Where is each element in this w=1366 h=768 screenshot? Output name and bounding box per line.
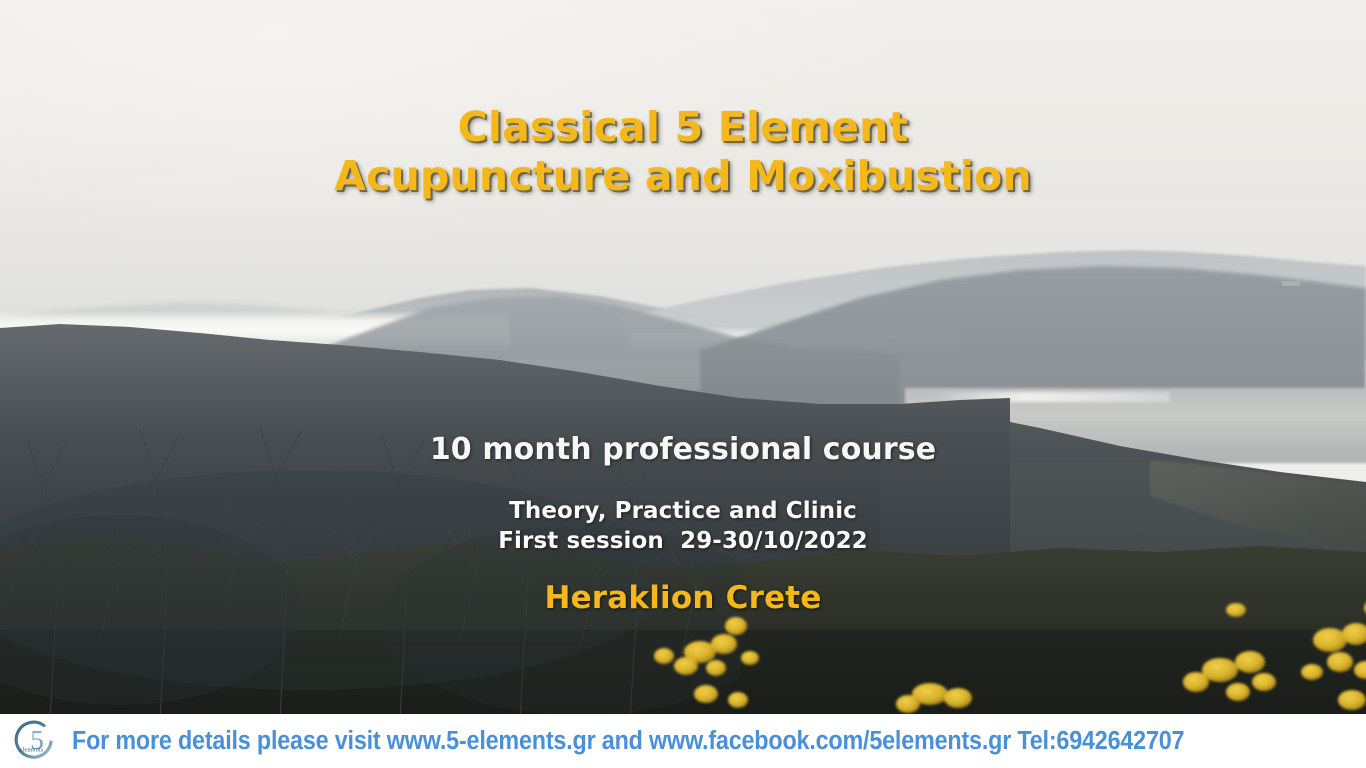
presentation-slide: Classical 5 Element Acupuncture and Moxi… xyxy=(0,0,1366,768)
course-detail-first-session: First session 29-30/10/2022 xyxy=(0,528,1366,554)
course-detail-theory: Theory, Practice and Clinic xyxy=(0,498,1366,524)
slide-title: Classical 5 Element Acupuncture and Moxi… xyxy=(0,106,1366,197)
contact-details-text: For more details please visit www.5-elem… xyxy=(72,727,1184,756)
course-headline: 10 month professional course xyxy=(0,432,1366,467)
logo-wordmark: elements xyxy=(19,747,44,754)
title-line-1: Classical 5 Element xyxy=(0,106,1366,149)
title-line-2: Acupuncture and Moxibustion xyxy=(0,155,1366,198)
course-info-block: 10 month professional course Theory, Pra… xyxy=(0,432,1366,554)
course-location: Heraklion Crete xyxy=(0,580,1366,616)
five-elements-logo: 5 elements xyxy=(4,716,64,766)
yellow-flower-shrubs xyxy=(640,600,1366,714)
contact-footer-bar: 5 elements For more details please visit… xyxy=(0,714,1366,768)
